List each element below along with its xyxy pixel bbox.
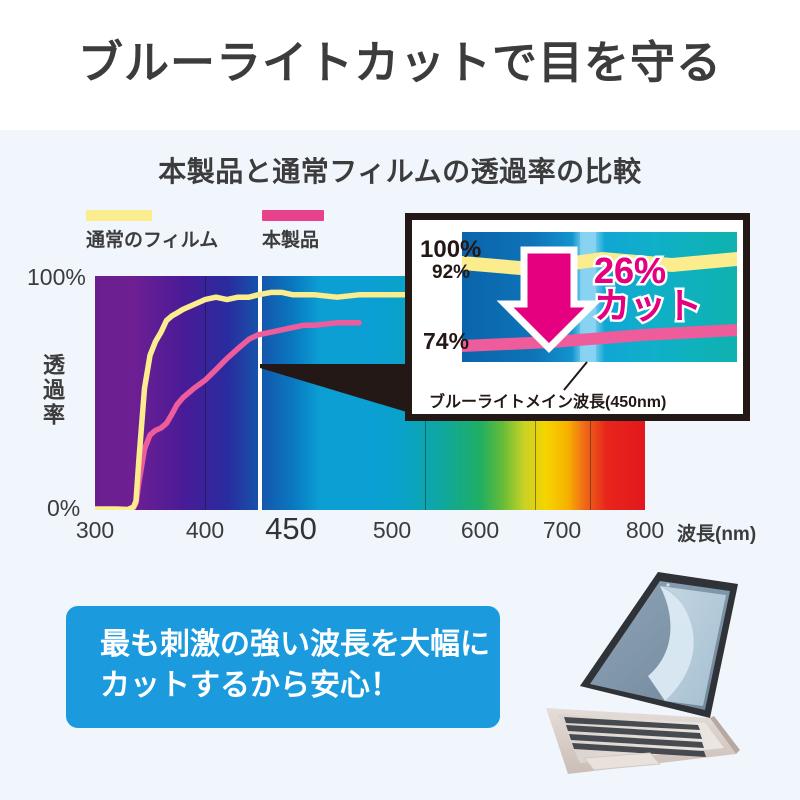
callout-caption: ブルーライトメイン波長(450nm) — [429, 388, 666, 412]
reduction-word: カット — [594, 285, 702, 326]
y-axis-tick-100: 100% — [27, 264, 86, 291]
callout-label-92-percent: 92% — [432, 262, 470, 284]
feature-banner: 最も刺激の強い波長を大幅にカットするから安心！ — [66, 606, 500, 728]
x-axis-tick-300: 300 — [76, 517, 114, 544]
x-axis-tick-400: 400 — [186, 517, 224, 544]
x-axis-tick-450: 450 — [265, 511, 317, 547]
infographic-page: ブルーライトカットで目を守る 本製品と通常フィルムの透過率の比較 通常のフィルム… — [0, 0, 800, 800]
callout-zoomed-chart: 26% カット 26% カット — [462, 232, 737, 362]
x-axis-tick-700: 700 — [543, 517, 581, 544]
callout-label-74-percent: 74% — [423, 328, 469, 355]
banner-line-1: 最も刺激の強い波長を大幅に — [100, 628, 490, 661]
feature-banner-text: 最も刺激の強い波長を大幅にカットするから安心！ — [100, 624, 490, 707]
callout-band-this-product — [462, 324, 737, 352]
x-axis-tick-600: 600 — [461, 517, 499, 544]
reduction-headline: 26% カット — [594, 254, 702, 323]
laptop-with-film-illustration — [540, 558, 800, 800]
y-axis-title: 透過率 — [36, 353, 68, 428]
callout-label-100-percent: 100% — [420, 236, 481, 264]
x-axis-tick-500: 500 — [373, 517, 411, 544]
x-axis-unit-label: 波長(nm) — [677, 519, 756, 546]
webcam-icon — [666, 583, 669, 586]
banner-line-2: カットするから安心！ — [100, 669, 400, 702]
zoom-callout-box: 26% カット 26% カット 100% 92% 74% ブルーライトメイン波長… — [405, 213, 750, 421]
x-axis-tick-800: 800 — [626, 517, 664, 544]
